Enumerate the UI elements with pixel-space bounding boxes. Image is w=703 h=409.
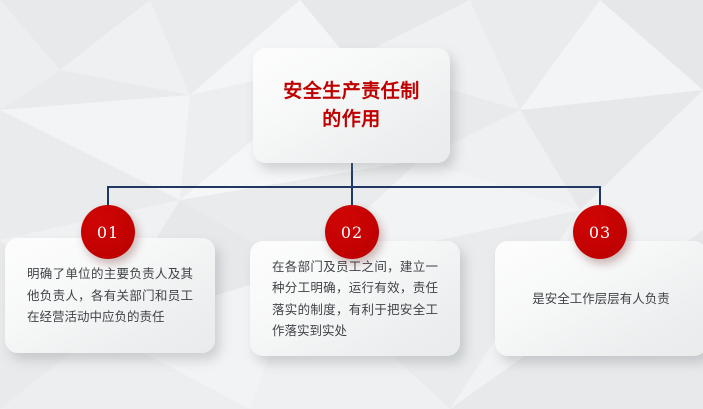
- title-text: 安全生产责任制 的作用: [283, 78, 420, 133]
- number-badge-03: 03: [573, 205, 627, 259]
- content-card-03-text: 是安全工作层层有人负责: [517, 288, 685, 310]
- content-card-01-text: 明确了单位的主要负责人及其他负责人，各有关部门和员工在经营活动中应负的责任: [27, 263, 193, 328]
- title-card: 安全生产责任制 的作用: [253, 48, 450, 163]
- connector-line-title-stem: [351, 163, 353, 188]
- connector-line-horizontal: [107, 186, 601, 188]
- number-badge-01: 01: [81, 205, 135, 259]
- content-card-02-text: 在各部门及员工之间，建立一种分工明确，运行有效，责任落实的制度，有利于把安全工作…: [272, 256, 438, 342]
- slide-canvas: 安全生产责任制 的作用 明确了单位的主要负责人及其他负责人，各有关部门和员工在经…: [0, 0, 703, 409]
- number-badge-02: 02: [325, 205, 379, 259]
